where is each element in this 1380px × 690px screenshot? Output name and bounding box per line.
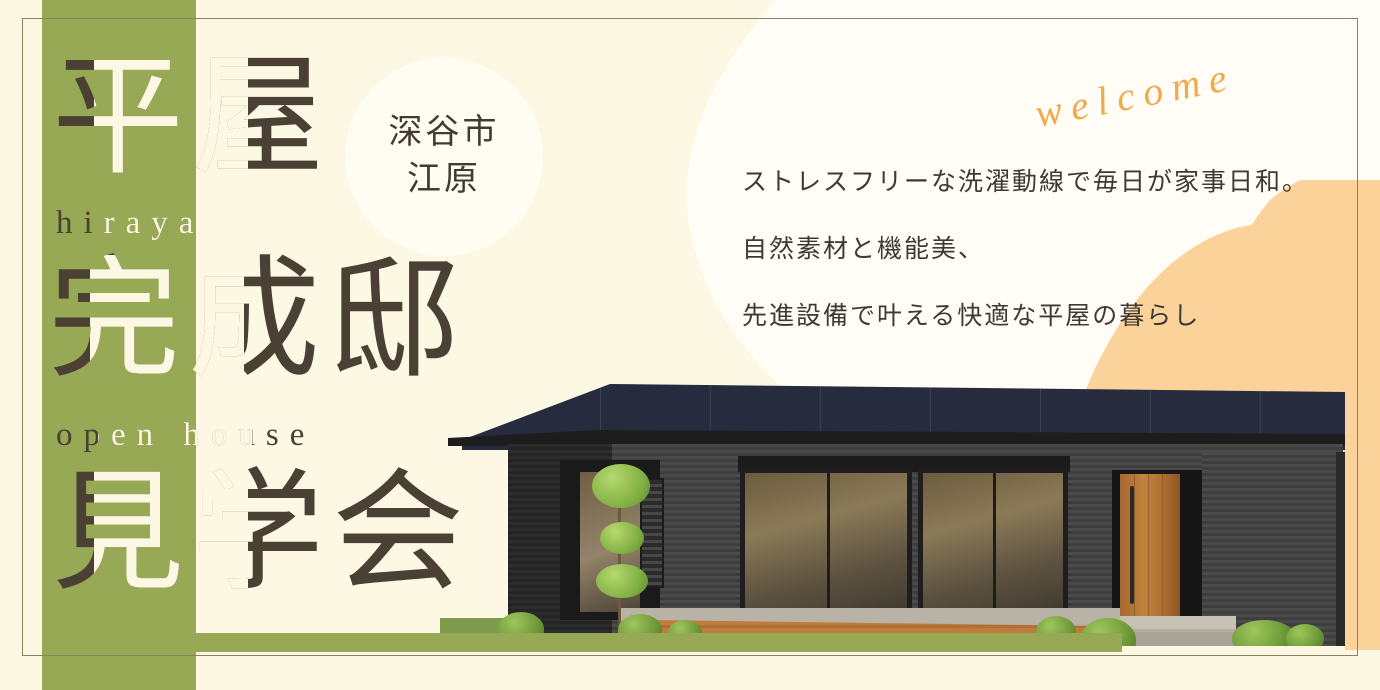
copy-line-3: 先進設備で叶える快適な平屋の暮らし (742, 304, 1342, 329)
door-handle (1130, 486, 1134, 604)
location-badge: 深谷市 江原 (345, 58, 543, 256)
copy-line-2: 自然素材と機能美、 (742, 237, 1342, 262)
banner-root: 平屋 平屋 hiraya hiraya 完成邸 完成邸 open house o… (0, 0, 1380, 690)
copy-line-1: ストレスフリーな洗濯動線で毎日が家事日和。 (742, 170, 1342, 195)
garden-tree-foliage (592, 464, 650, 508)
location-badge-line1: 深谷市 (389, 110, 500, 157)
garden-tree-foliage (596, 564, 648, 598)
welcome-script-text: welcome (1031, 52, 1239, 137)
sliding-window-left (740, 468, 912, 618)
copy-block: ストレスフリーな洗濯動線で毎日が家事日和。 自然素材と機能美、 先進設備で叶える… (742, 170, 1342, 371)
location-badge-line2: 江原 (407, 157, 481, 204)
entrance-door (1120, 474, 1180, 620)
garden-tree-foliage (600, 522, 644, 554)
sliding-window-right (918, 468, 1068, 618)
house-corner-shadow (1336, 452, 1345, 649)
photo-foreground (440, 646, 1345, 690)
